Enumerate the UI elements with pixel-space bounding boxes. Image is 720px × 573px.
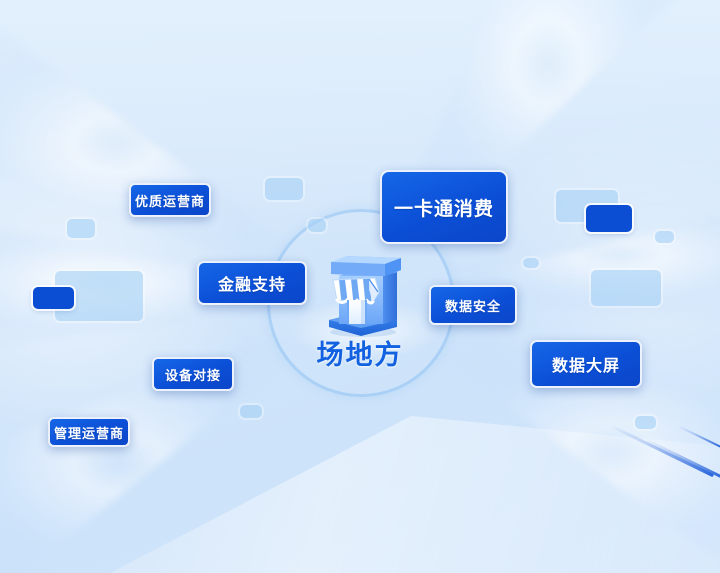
streak-1 [609,424,714,477]
label-card-text: 数据安全 [445,296,501,315]
label-card-shuju-anquan[interactable]: 数据安全 [429,285,517,325]
deco-rect-1 [67,219,95,238]
deco-rect-3 [308,219,326,232]
label-card-text: 设备对接 [165,365,221,384]
streak-3 [678,425,720,448]
label-card-text: 一卡通消费 [394,194,494,221]
label-card-shuju-daping[interactable]: 数据大屏 [530,340,642,388]
deco-rect-2 [265,178,303,200]
label-card-text: 金融支持 [218,271,286,295]
deco-rect-10 [591,270,661,306]
deco-rect-7 [586,205,632,232]
deco-rect-12 [240,405,262,418]
label-card-jinrong-zhichi[interactable]: 金融支持 [197,261,307,305]
label-card-shebei-duijie[interactable]: 设备对接 [152,357,234,391]
deco-rect-9 [523,258,539,268]
label-card-text: 管理运营商 [54,423,124,442]
label-card-guanli-yunyingshang[interactable]: 管理运营商 [48,417,130,447]
ray-to-youzhi [0,0,361,300]
label-card-youzhi-yunyingshang[interactable]: 优质运营商 [129,183,211,217]
deco-rect-5 [33,287,74,309]
label-card-yikatong-xiaofei[interactable]: 一卡通消费 [380,170,508,244]
deco-rect-11 [635,416,656,429]
streak-2 [644,438,720,478]
label-card-text: 优质运营商 [135,191,205,210]
deco-rect-8 [655,231,674,243]
label-card-text: 数据大屏 [552,352,620,376]
storefront-icon [317,248,405,338]
infographic-canvas: 场地方 优质运营商金融支持设备对接管理运营商一卡通消费数据安全数据大屏 [0,0,720,573]
ray-to-yikatong [361,0,720,300]
